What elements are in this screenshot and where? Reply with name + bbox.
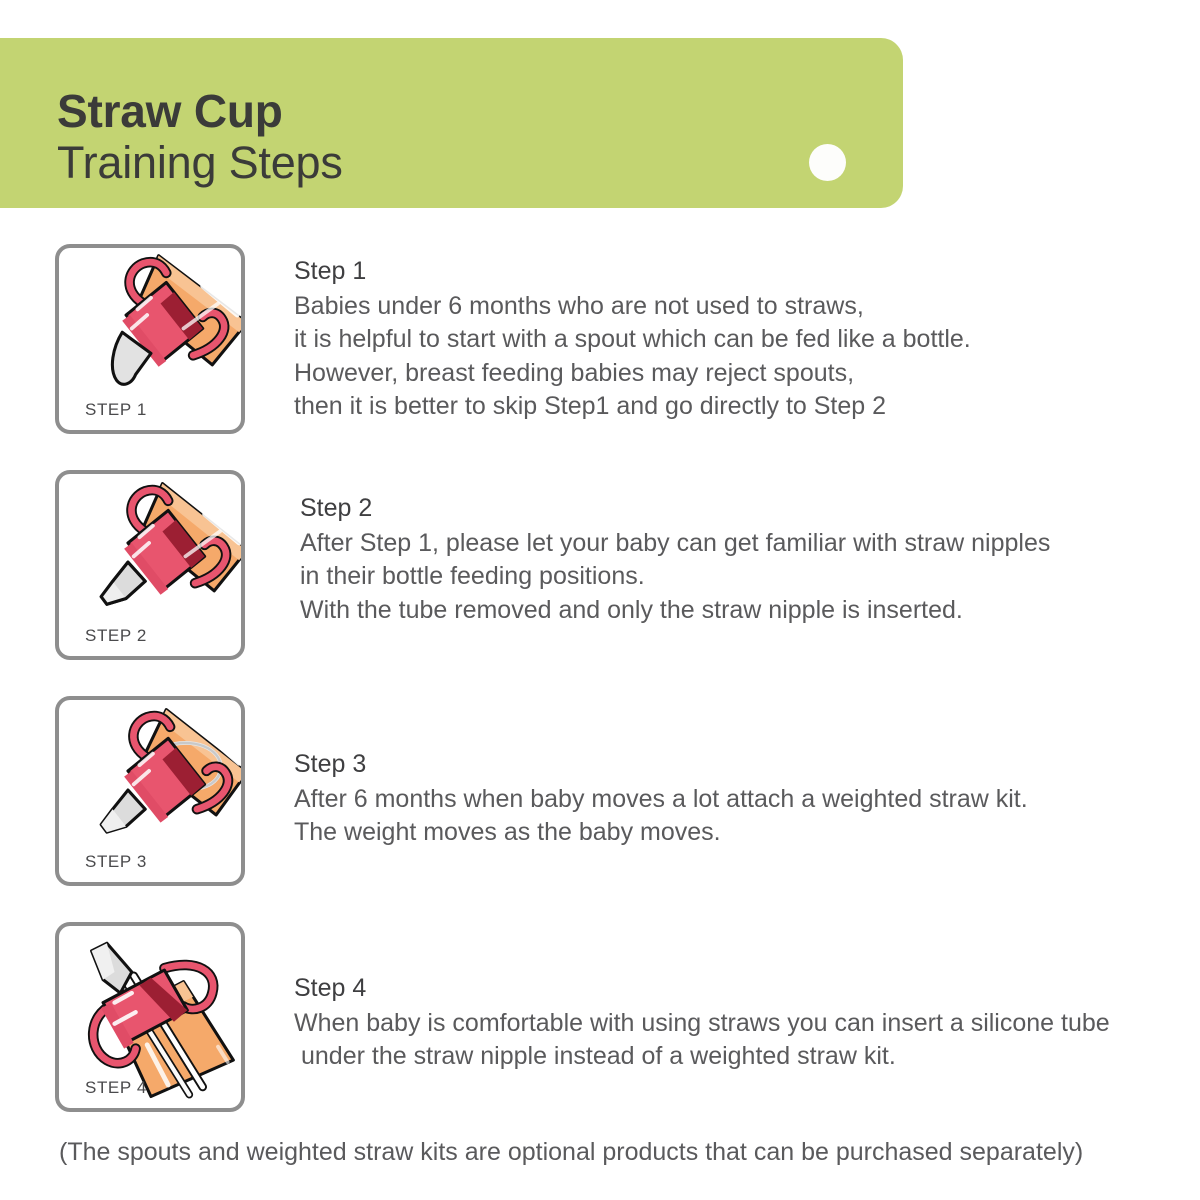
step-body-line: When baby is comfortable with using stra… — [294, 1007, 1180, 1041]
header-title-group: Straw Cup Training Steps — [57, 88, 343, 192]
step-heading: Step 4 — [294, 972, 1180, 1006]
step-heading: Step 1 — [294, 255, 1180, 289]
steps-list: STEP 1 Step 1 Babies under 6 months who … — [0, 244, 1200, 1148]
step-1-illustration-card: STEP 1 — [55, 244, 245, 434]
step-body-line: The weight moves as the baby moves. — [294, 816, 1180, 850]
step-body-line: After 6 months when baby moves a lot att… — [294, 783, 1180, 817]
page-subtitle: Training Steps — [57, 134, 343, 192]
hole-punch-dot-icon — [809, 144, 846, 181]
step-row: STEP 3 Step 3 After 6 months when baby m… — [0, 696, 1200, 886]
card-caption: STEP 3 — [85, 852, 147, 872]
card-caption: STEP 1 — [85, 400, 147, 420]
step-3-text: Step 3 After 6 months when baby moves a … — [294, 748, 1180, 850]
step-body-line: However, breast feeding babies may rejec… — [294, 357, 1180, 391]
step-body-line: Babies under 6 months who are not used t… — [294, 290, 1180, 324]
step-heading: Step 2 — [298, 492, 1180, 526]
footer-note: (The spouts and weighted straw kits are … — [59, 1138, 1083, 1167]
step-row: STEP 1 Step 1 Babies under 6 months who … — [0, 244, 1200, 434]
header-banner: Straw Cup Training Steps — [0, 38, 903, 208]
step-1-text: Step 1 Babies under 6 months who are not… — [294, 255, 1180, 424]
step-body: Babies under 6 months who are not used t… — [294, 290, 1180, 425]
page-title: Straw Cup — [57, 88, 343, 134]
step-2-illustration-card: STEP 2 — [55, 470, 245, 660]
step-2-text: Step 2 After Step 1, please let your bab… — [298, 492, 1180, 627]
step-body-line: it is helpful to start with a spout whic… — [294, 323, 1180, 357]
step-body-line: then it is better to skip Step1 and go d… — [294, 390, 1180, 424]
step-body: After 6 months when baby moves a lot att… — [294, 783, 1180, 850]
card-caption: STEP 4 — [85, 1078, 147, 1098]
step-body-line: under the straw nipple instead of a weig… — [294, 1040, 1180, 1074]
step-row: STEP 4 Step 4 When baby is comfortable w… — [0, 922, 1200, 1112]
step-heading: Step 3 — [294, 748, 1180, 782]
step-body-line: in their bottle feeding positions. — [298, 560, 1180, 594]
step-body-line: With the tube removed and only the straw… — [298, 594, 1180, 628]
step-3-illustration-card: STEP 3 — [55, 696, 245, 886]
step-row: STEP 2 Step 2 After Step 1, please let y… — [0, 470, 1200, 660]
step-body: When baby is comfortable with using stra… — [294, 1007, 1180, 1074]
step-4-illustration-card: STEP 4 — [55, 922, 245, 1112]
step-body-line: After Step 1, please let your baby can g… — [298, 527, 1180, 561]
step-body: After Step 1, please let your baby can g… — [298, 527, 1180, 628]
card-caption: STEP 2 — [85, 626, 147, 646]
step-4-text: Step 4 When baby is comfortable with usi… — [294, 972, 1180, 1074]
